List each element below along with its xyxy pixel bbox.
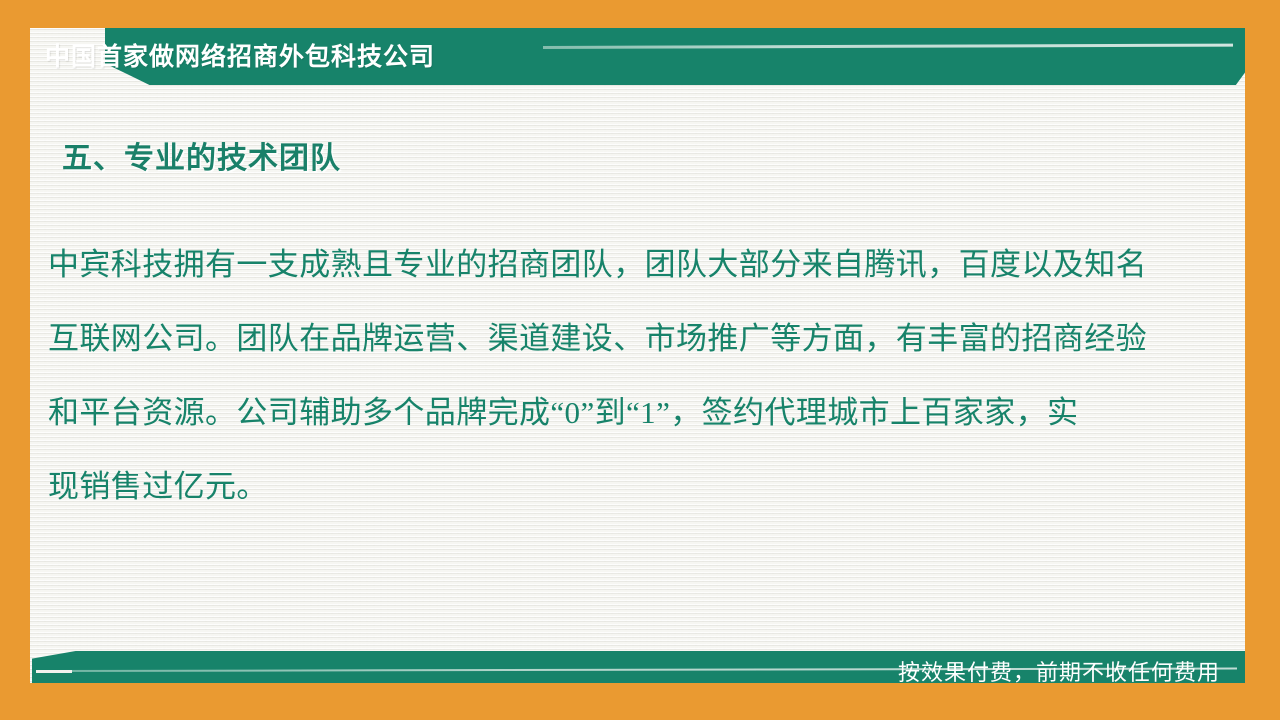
paragraph-line: 现销售过亿元。 — [48, 450, 1183, 524]
footer-tagline: 按效果付费，前期不收任何费用 — [898, 655, 1220, 687]
paragraph-line: 中宾科技拥有一支成熟且专业的招商团队，团队大部分来自腾讯，百度以及知名 — [48, 228, 1183, 302]
slide-root: 中国首家做网络招商外包科技公司 五、专业的技术团队 中宾科技拥有一支成熟且专业的… — [0, 0, 1280, 720]
body-paragraph: 中宾科技拥有一支成熟且专业的招商团队，团队大部分来自腾讯，百度以及知名 互联网公… — [48, 228, 1183, 524]
header-title: 中国首家做网络招商外包科技公司 — [45, 37, 435, 73]
paragraph-line: 和平台资源。公司辅助多个品牌完成“0”到“1”，签约代理城市上百家家，实 — [48, 376, 1183, 450]
paragraph-line: 互联网公司。团队在品牌运营、渠道建设、市场推广等方面，有丰富的招商经验 — [48, 302, 1183, 376]
section-heading: 五、专业的技术团队 — [62, 133, 341, 177]
footer-dash-mark — [36, 670, 72, 673]
